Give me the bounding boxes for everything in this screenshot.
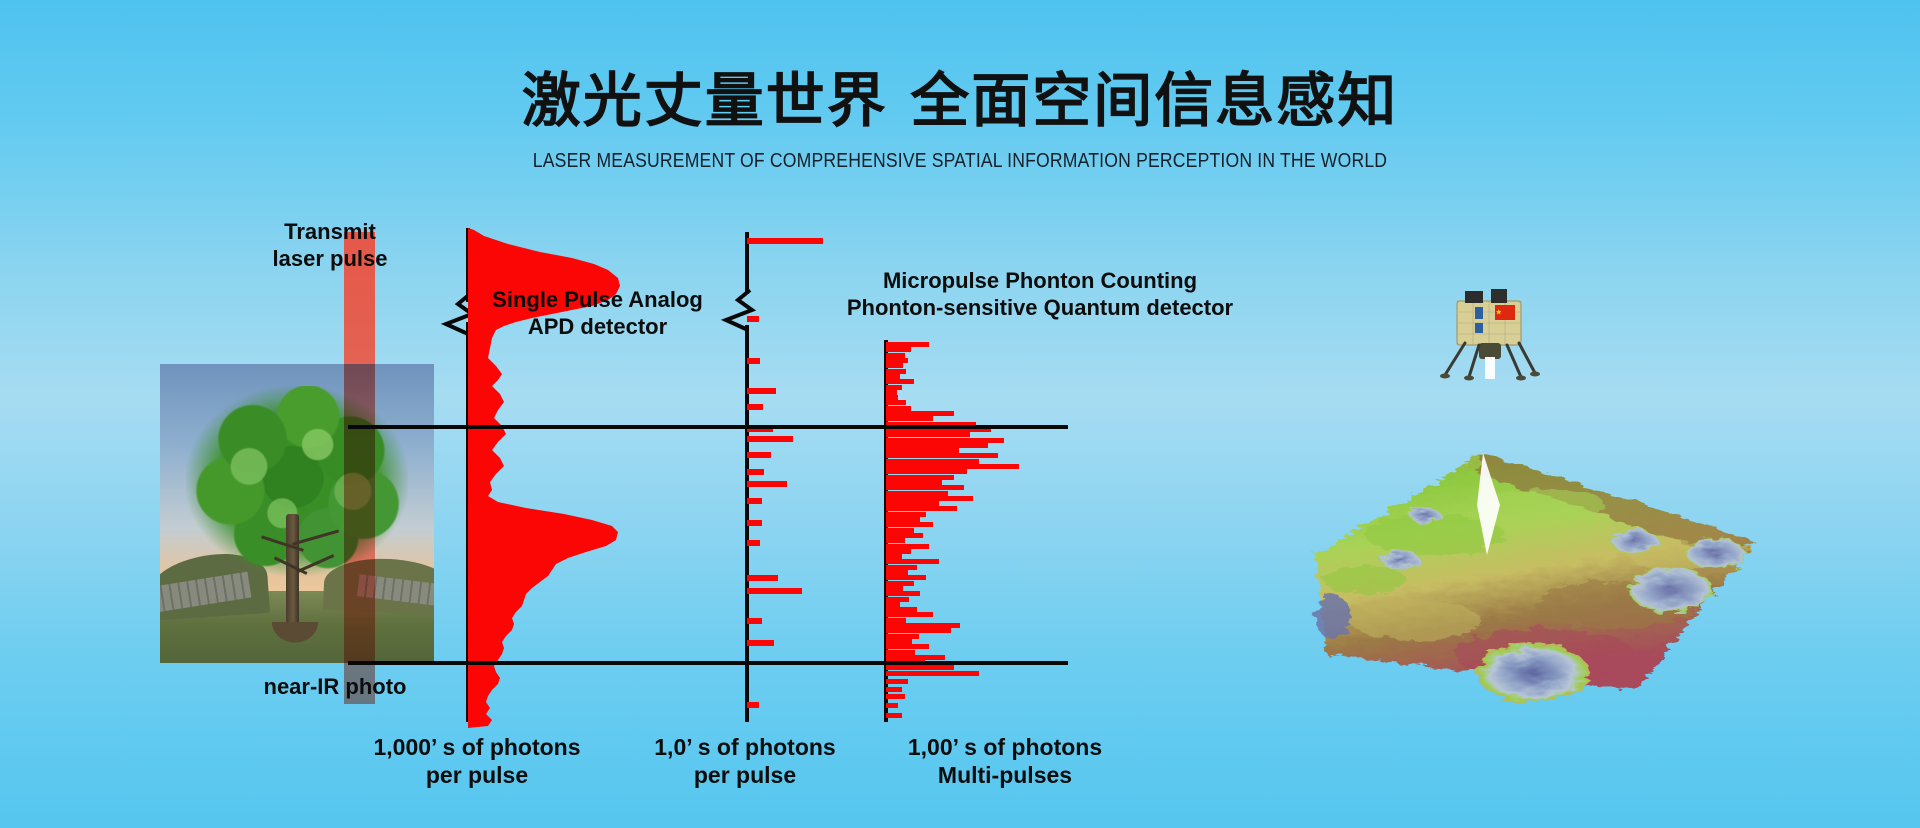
photon-return-bar [886, 416, 933, 421]
panel3-title: Micropulse Phonton Counting Phonton-sens… [770, 268, 1310, 322]
photon-return-bar [886, 679, 908, 684]
photon-return-bar [886, 694, 905, 699]
photon-return-bar [886, 406, 911, 411]
photon-return-bar [886, 575, 926, 580]
photon-return-bar [886, 597, 909, 602]
photon-return-bar [886, 559, 939, 564]
photon-return-bar [886, 634, 919, 639]
photon-return-bar [886, 347, 911, 352]
photon-return-bar [886, 369, 906, 374]
photon-return-bar [886, 623, 960, 628]
page-title: 激光丈量世界 全面空间信息感知 [0, 53, 1920, 138]
photon-return-bar [886, 353, 905, 358]
photon-return-bar [747, 588, 802, 594]
transmit-label: Transmit laser pulse [230, 219, 430, 273]
photon-return-bar [886, 549, 911, 554]
photon-return-bar [886, 400, 906, 405]
photon-return-bar [886, 385, 902, 390]
photon-return-bar [747, 520, 762, 526]
photon-return-bar [886, 459, 979, 464]
page-subtitle: LASER MEASUREMENT OF COMPREHENSIVE SPATI… [115, 150, 1805, 173]
photon-return-bar [747, 436, 793, 442]
canopy-reference-line [348, 425, 1068, 429]
photon-return-bar [886, 554, 902, 559]
panel3-footer: 1,00’ s of photons Multi-pulses [880, 733, 1130, 789]
photon-return-bar [886, 496, 973, 501]
photon-return-bar [747, 702, 759, 708]
photon-return-bar [886, 374, 900, 379]
photon-return-bar [886, 533, 923, 538]
photon-return-bar [747, 316, 759, 322]
photon-return-bar [886, 390, 897, 395]
photon-return-bar [886, 528, 914, 533]
photon-return-bar [886, 703, 898, 708]
tree-root [268, 622, 322, 646]
photon-return-bar [747, 498, 762, 504]
lunar-lander [1435, 285, 1551, 381]
photon-return-bar [747, 618, 762, 624]
photon-return-bar [886, 443, 988, 448]
photon-return-bar [886, 538, 905, 543]
photon-return-bar [747, 452, 771, 458]
photon-return-bar [747, 388, 776, 394]
photon-return-bar [886, 687, 902, 692]
photon-return-bar [886, 501, 939, 506]
photon-return-bar [886, 544, 929, 549]
photon-return-bar [747, 358, 760, 364]
photon-return-bar [886, 379, 914, 384]
photon-return-bar [886, 612, 933, 617]
photon-return-bar [886, 485, 964, 490]
photon-return-bar [886, 591, 920, 596]
near-ir-photo-caption: near-IR photo [210, 674, 460, 701]
photon-return-bar [747, 575, 778, 581]
panel1-footer: 1,000’ s of photons per pulse [352, 733, 602, 789]
photon-return-bar [886, 581, 914, 586]
photon-return-bar [886, 607, 917, 612]
photon-return-bar [886, 671, 979, 676]
photon-return-bar [886, 512, 926, 517]
banner-stage: 激光丈量世界 全面空间信息感知 LASER MEASUREMENT OF COM… [0, 0, 1920, 828]
photon-return-bar [886, 448, 959, 453]
photon-return-bar [886, 411, 954, 416]
photon-return-bar [886, 650, 915, 655]
photon-return-bar [886, 517, 920, 522]
photon-return-bar [886, 342, 929, 347]
lunar-terrain-dem [1215, 355, 1775, 725]
photon-return-bar [886, 522, 933, 527]
photon-return-bar [886, 644, 929, 649]
photon-return-bar [747, 469, 764, 475]
photon-return-bar [886, 570, 908, 575]
photon-return-bar [886, 618, 906, 623]
photon-return-bar [886, 639, 912, 644]
photon-return-bar [886, 655, 945, 660]
photon-return-bar [886, 491, 948, 496]
photon-return-bar [886, 395, 898, 400]
photon-return-bar [747, 404, 763, 410]
panel2-footer: 1,0’ s of photons per pulse [620, 733, 870, 789]
photon-return-bar [747, 640, 774, 646]
photon-return-bar [747, 540, 760, 546]
photon-return-bar [886, 665, 954, 670]
ground-reference-line [348, 661, 1068, 665]
photon-return-bar [886, 586, 903, 591]
photon-return-bar [886, 438, 1004, 443]
photon-return-bar [886, 506, 957, 511]
photon-return-bar [886, 480, 942, 485]
photon-return-bar [886, 475, 954, 480]
photon-return-bar [886, 469, 967, 474]
photon-return-bar [886, 432, 970, 437]
photon-return-bar [886, 453, 998, 458]
photon-return-bar [886, 363, 903, 368]
photon-return-bar [886, 565, 917, 570]
photon-return-bar [886, 628, 951, 633]
photon-return-bar [886, 464, 1019, 469]
photon-return-bar [747, 481, 787, 487]
near-ir-photo [160, 364, 434, 663]
photon-return-bar [886, 713, 902, 718]
photon-return-bar [747, 238, 823, 244]
panel1-title: Single Pulse Analog APD detector [470, 287, 725, 341]
photon-return-bar [886, 358, 908, 363]
photon-return-bar [886, 602, 900, 607]
